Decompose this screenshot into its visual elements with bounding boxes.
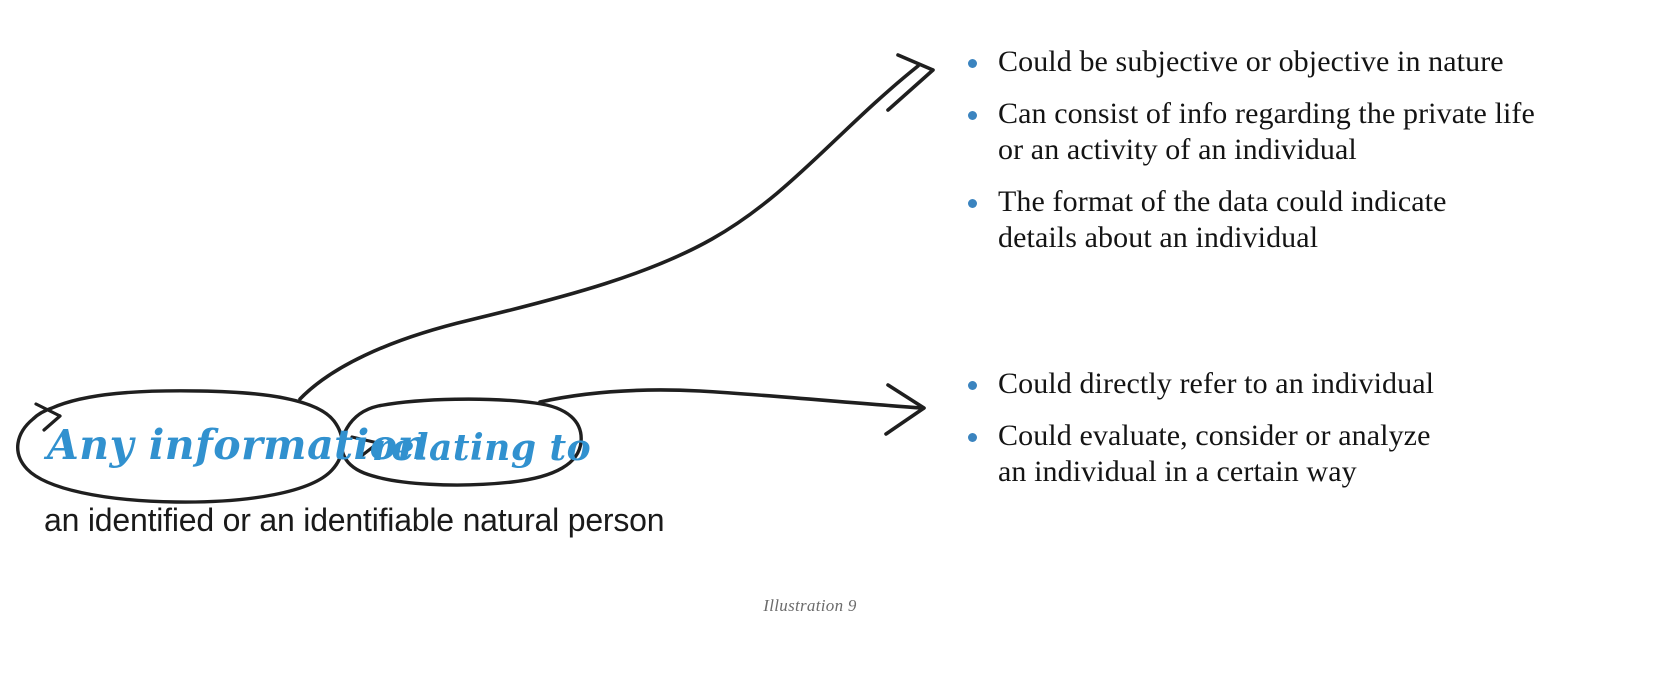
bullet-dot-icon — [968, 59, 977, 68]
arrow-head-top — [888, 55, 933, 110]
bullet-text: Could directly refer to an individual — [998, 366, 1568, 402]
list-item: Can consist of info regarding the privat… — [968, 96, 1568, 168]
bullet-dot-icon — [968, 433, 977, 442]
bubble-label-relating-to: relating to — [372, 426, 591, 470]
figure-caption-text: Illustration 9 — [763, 596, 856, 615]
bullet-group-relating-to: Could directly refer to an individual Co… — [968, 366, 1568, 506]
bullet-text: Could be subjective or objective in natu… — [998, 44, 1568, 80]
arrow-curve-bottom — [540, 390, 922, 408]
figure-caption: Illustration 9 — [0, 596, 1656, 616]
bullet-line-1: The format of the data could indicate — [998, 185, 1447, 218]
bullet-group-any-information: Could be subjective or objective in natu… — [968, 44, 1568, 272]
bullet-line-2: details about an individual — [998, 221, 1318, 254]
bullet-text: Can consist of info regarding the privat… — [998, 96, 1568, 168]
bullet-line-2: an individual in a certain way — [998, 455, 1357, 488]
list-item: Could evaluate, consider or analyzean in… — [968, 418, 1568, 490]
arrow-curve-top — [300, 66, 918, 399]
bullet-line-1: Could evaluate, consider or analyze — [998, 419, 1431, 452]
bubble-label-any-information: Any information — [47, 421, 428, 469]
bullet-line-2: or an activity of an individual — [998, 133, 1357, 166]
bullet-dot-icon — [968, 111, 977, 120]
bullet-text: Could evaluate, consider or analyzean in… — [998, 418, 1568, 490]
bullet-dot-icon — [968, 381, 977, 390]
subcaption-identified-natural-person: an identified or an identifiable natural… — [44, 500, 664, 540]
list-item: The format of the data could indicatedet… — [968, 184, 1568, 256]
bullet-text: The format of the data could indicatedet… — [998, 184, 1568, 256]
bullet-dot-icon — [968, 199, 977, 208]
list-item: Could directly refer to an individual — [968, 366, 1568, 402]
bullet-line-1: Can consist of info regarding the privat… — [998, 97, 1535, 130]
list-item: Could be subjective or objective in natu… — [968, 44, 1568, 80]
